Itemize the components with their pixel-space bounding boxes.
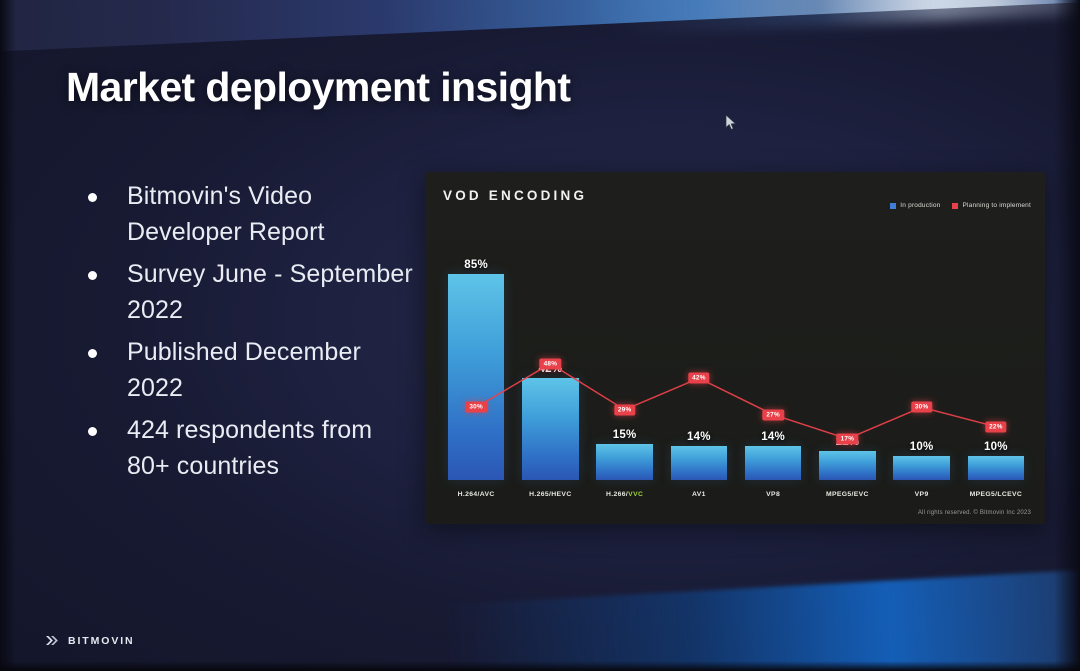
chart-line-point-label: 42%	[688, 373, 709, 384]
legend-swatch-blue	[890, 203, 896, 209]
decorative-top-band-glow	[0, 0, 1080, 66]
chart-legend: In production Planning to implement	[890, 202, 1031, 209]
legend-swatch-red	[952, 203, 958, 209]
chart-line-series	[439, 230, 1033, 502]
bitmovin-chevron-icon	[46, 634, 61, 647]
list-item: Bitmovin's Video Developer Report	[88, 178, 418, 250]
chart-line-point-label: 17%	[837, 433, 858, 444]
bullet-dot-icon	[88, 271, 97, 280]
chart-line-point-label: 30%	[465, 402, 486, 413]
vod-encoding-chart-panel: VOD ENCODING In production Planning to i…	[425, 172, 1045, 524]
chart-title: VOD ENCODING	[443, 188, 587, 203]
legend-item-in-production: In production	[890, 202, 940, 209]
list-item: Survey June - September 2022	[88, 256, 418, 328]
chart-copyright: All rights reserved. © Bitmovin Inc 2023	[918, 510, 1031, 516]
bitmovin-logo-text: BITMOVIN	[68, 635, 135, 647]
chart-plot-area: 85%H.264/AVC42%H.265/HEVC15%H.266/VVC14%…	[439, 230, 1033, 502]
legend-label: Planning to implement	[962, 202, 1031, 209]
mouse-cursor-icon	[725, 114, 737, 131]
edge-vignette-left	[0, 0, 16, 671]
list-item-label: Survey June - September 2022	[127, 256, 418, 328]
edge-vignette-bottom	[0, 661, 1080, 671]
chart-line-point-label: 48%	[540, 358, 561, 369]
page-title: Market deployment insight	[66, 64, 570, 111]
chart-line-point-label: 22%	[985, 421, 1006, 432]
bullet-list: Bitmovin's Video Developer Report Survey…	[88, 178, 418, 490]
chart-line-point-label: 29%	[614, 404, 635, 415]
list-item-label: 424 respondents from 80+ countries	[127, 412, 418, 484]
list-item: 424 respondents from 80+ countries	[88, 412, 418, 484]
list-item: Published December 2022	[88, 334, 418, 406]
edge-vignette-right	[1054, 0, 1080, 671]
list-item-label: Published December 2022	[127, 334, 418, 406]
bullet-dot-icon	[88, 427, 97, 436]
slide-canvas: Market deployment insight Bitmovin's Vid…	[0, 0, 1080, 671]
chart-line-point-label: 30%	[911, 402, 932, 413]
bullet-dot-icon	[88, 193, 97, 202]
chart-line-point-label: 27%	[762, 409, 783, 420]
legend-label: In production	[900, 202, 940, 209]
bullet-dot-icon	[88, 349, 97, 358]
bitmovin-logo: BITMOVIN	[46, 634, 135, 647]
legend-item-planning: Planning to implement	[952, 202, 1031, 209]
list-item-label: Bitmovin's Video Developer Report	[127, 178, 418, 250]
